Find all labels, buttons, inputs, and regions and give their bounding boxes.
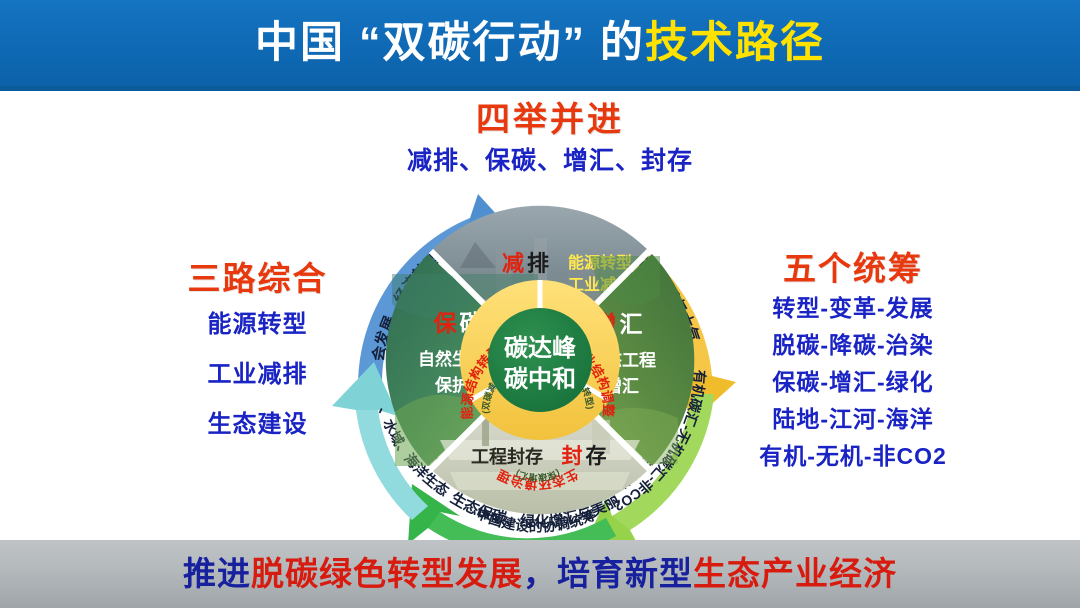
quadrant-zenghui-label-dark: 汇 [620,311,643,337]
quadrant-fengcun-label-red: 封 [562,444,583,468]
quadrant-fengcun-detail-1: 工程封存 [471,446,543,467]
center-line-1: 碳达峰 [504,334,576,362]
slide-canvas: 中国 “双碳行动” 的技术路径 四举并进 减排、保碳、增汇、封存 三路综合 能源… [0,0,1080,608]
quadrant-jianpai-label-dark: 排 [527,251,549,276]
page-title-part-2: 技术路径 [645,19,825,67]
top-center-block: 四举并进 减排、保碳、增汇、封存 [340,100,760,179]
footer-part-4: 生态产业经济 [693,555,897,592]
center-core: 碳达峰 碳中和 [488,308,592,412]
footer-part-2: 脱碳绿色转型发展 [251,555,523,592]
footer-part-1: 推进 [183,555,251,592]
quadrant-fengcun-label-dark: 存 [586,444,607,468]
dual-carbon-diagram: 社会发展、经济转型与新生态 经济培育的协调统筹 减排降碳、减排治污与大气 质量管… [300,172,780,550]
quadrant-baotan-label-red: 保 [433,310,458,336]
header-underline [0,86,1080,91]
page-title-part-1: 中国 “双碳行动” 的 [255,19,645,67]
footer-text: 推进脱碳绿色转型发展，培育新型生态产业经济 [0,553,1080,595]
footer-part-3: ，培育新型 [523,555,693,592]
page-title: 中国 “双碳行动” 的技术路径 [0,12,1080,74]
quadrant-jianpai-label-red: 减 [502,251,524,276]
center-line-2: 碳中和 [504,366,576,393]
top-headline: 四举并进 [340,100,760,140]
